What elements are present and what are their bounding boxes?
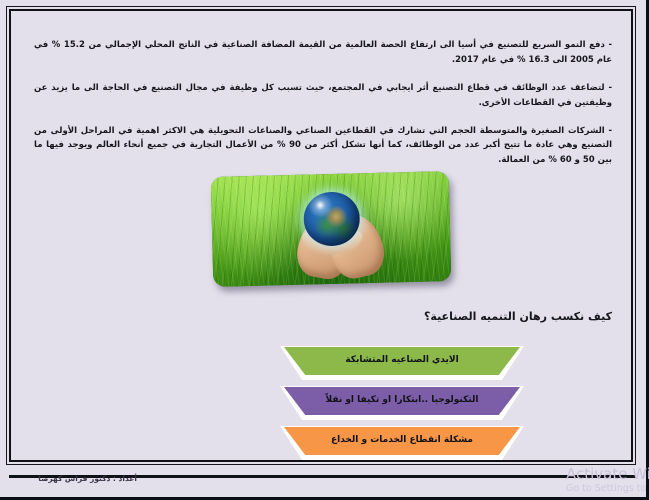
banner-fill-3: مشكلة انقطاع الخدمات و الخداع: [284, 427, 520, 455]
banner-fill-1: الايدي الصناعيه المتشابكة: [284, 347, 520, 375]
bullet-list: - دفع النمو السريع للتصنيع في أسيا الى ا…: [12, 38, 634, 168]
banner-row-3[interactable]: مشكلة انقطاع الخدمات و الخداع: [280, 426, 524, 456]
banner-label-1: الايدي الصناعيه المتشابكة: [345, 355, 458, 365]
bullet-item-1: - دفع النمو السريع للتصنيع في أسيا الى ا…: [34, 38, 612, 68]
watermark-subtitle: Go to Settings to activate Windows.: [566, 483, 649, 495]
bullet-item-3: - الشركات الصغيرة والمتوسطة الحجم التي ت…: [34, 124, 612, 169]
author-credit: أعداد : دكتور فراس كهرضا: [38, 474, 137, 483]
question-heading: كيف نكسب رهان التنميه الصناعية؟: [424, 310, 612, 323]
slide-content: - دفع النمو السريع للتصنيع في أسيا الى ا…: [12, 12, 634, 472]
banner-row-2[interactable]: التكنولوجيا ..ابتكارا او تكيفا او نقلاً: [280, 386, 524, 416]
banner-stack: الايدي الصناعيه المتشابكة التكنولوجيا ..…: [280, 346, 524, 456]
earth-in-hands-image: [211, 171, 452, 287]
bullet-item-2: - لتضاعف عدد الوظائف في قطاع التصنيع أثر…: [34, 81, 612, 111]
banner-fill-2: التكنولوجيا ..ابتكارا او تكيفا او نقلاً: [284, 387, 520, 415]
banner-label-2: التكنولوجيا ..ابتكارا او تكيفا او نقلاً: [326, 395, 479, 405]
banner-row-1[interactable]: الايدي الصناعيه المتشابكة: [280, 346, 524, 376]
slide-canvas: - دفع النمو السريع للتصنيع في أسيا الى ا…: [0, 0, 649, 500]
banner-label-3: مشكلة انقطاع الخدمات و الخداع: [331, 435, 473, 445]
slide-image-wrapper: [212, 174, 450, 292]
